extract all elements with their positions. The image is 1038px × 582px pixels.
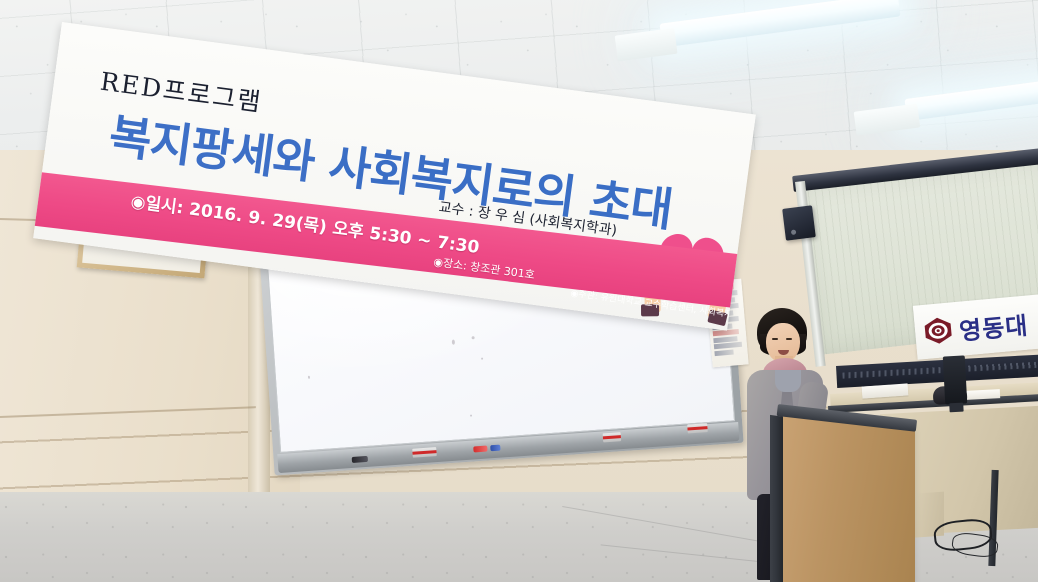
blue-marker[interactable] [490,445,500,452]
yeongdong-university-logo-icon [922,315,954,346]
wall-speaker-icon [782,205,816,240]
black-marker[interactable] [352,456,368,463]
eye-right [786,338,792,340]
red-marker[interactable] [473,446,487,453]
banner-title-part1: 복지팡세와 [106,109,318,190]
university-sign-text: 영동대 [957,305,1029,346]
desktop-monitor [943,355,967,404]
lecture-hall-photo: 영동대 [0,0,1038,582]
board-eraser[interactable] [412,447,437,458]
papers-on-desk-2 [966,389,1000,400]
wooden-lectern [783,411,915,582]
eye-left [772,338,778,340]
board-eraser-3[interactable] [687,423,708,433]
university-sign: 영동대 [913,294,1038,359]
mouth [778,350,789,355]
board-eraser-2[interactable] [603,432,622,442]
